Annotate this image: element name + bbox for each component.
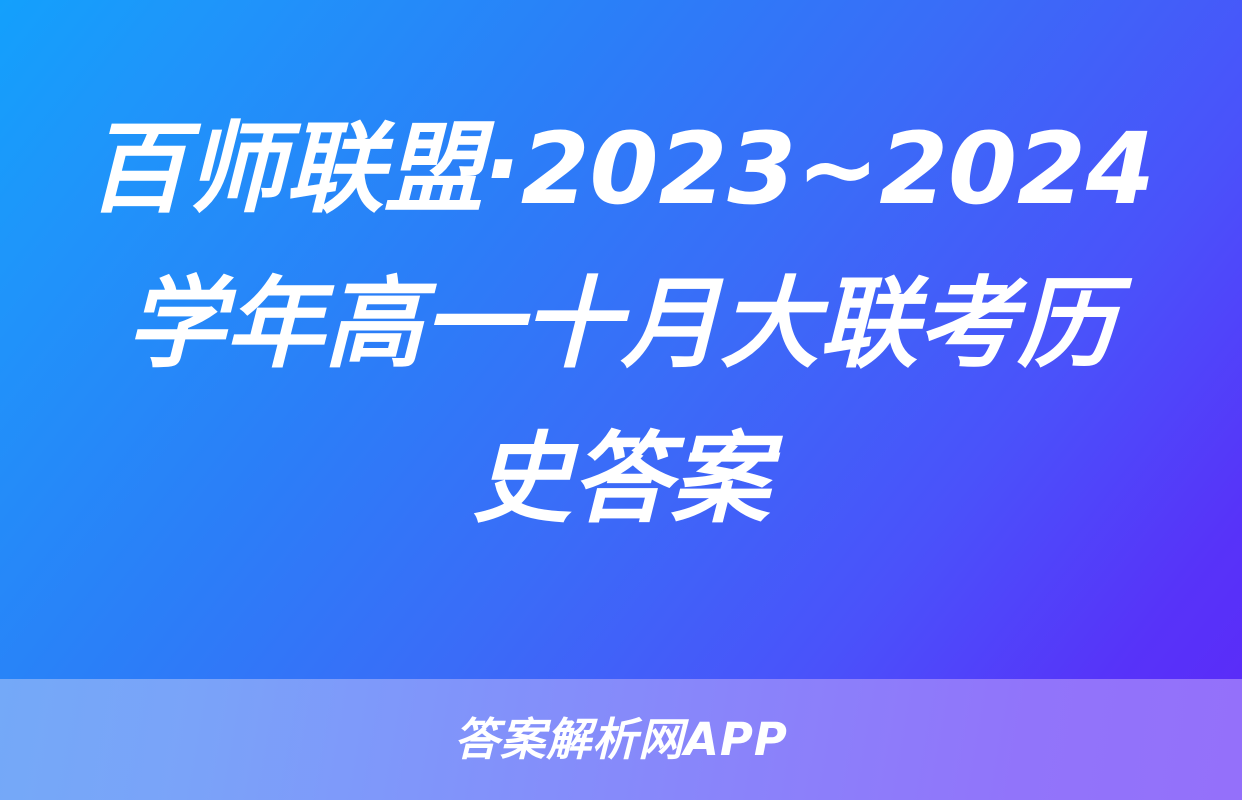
poster-card: 百师联盟·2023~2024学年高一十月大联考历史答案 答案解析网APP: [0, 0, 1242, 800]
brand-watermark: 答案解析网APP: [454, 717, 788, 762]
page-title: 百师联盟·2023~2024学年高一十月大联考历史答案: [86, 92, 1156, 557]
title-area: 百师联盟·2023~2024学年高一十月大联考历史答案: [0, 0, 1242, 679]
footer-watermark-band: 答案解析网APP: [0, 679, 1242, 800]
